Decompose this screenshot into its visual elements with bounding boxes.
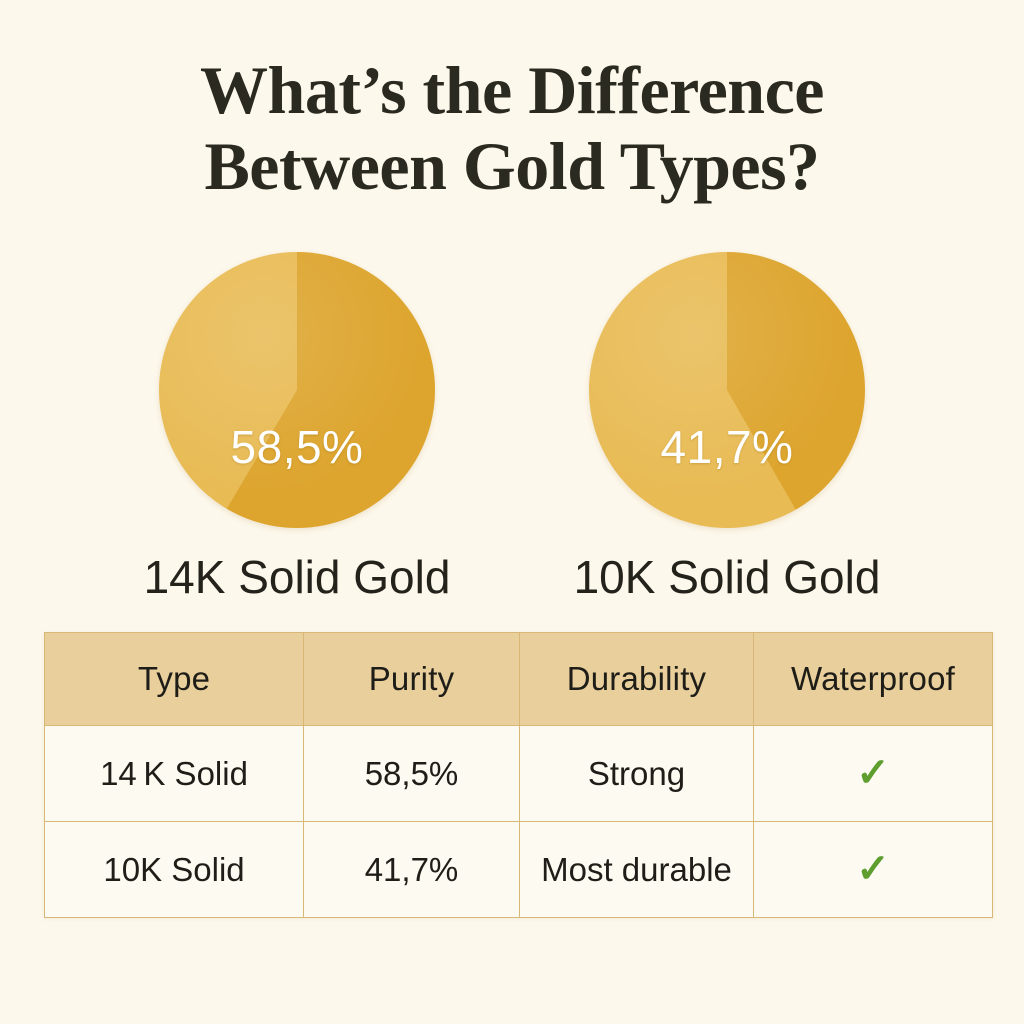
pie-chart-14k: 58,5% 14K Solid Gold	[87, 250, 507, 540]
pie-caption-14k: 14K Solid Gold	[87, 550, 507, 604]
cell-type-10k: 10K Solid	[45, 822, 304, 918]
gold-comparison-table: Type Purity Durability Waterproof 14 K S…	[44, 632, 993, 918]
pie-value-label-10k: 41,7%	[589, 420, 865, 474]
page-title: What’s the Difference Between Gold Types…	[0, 52, 1024, 204]
pie-graphic-10k: 41,7%	[589, 252, 865, 528]
check-icon: ✓	[856, 849, 890, 889]
pie-value-label-14k: 58,5%	[159, 420, 435, 474]
table-header-durability: Durability	[520, 633, 754, 726]
pie-caption-10k: 10K Solid Gold	[517, 550, 937, 604]
pie-charts-row: 58,5% 14K Solid Gold 41,7% 10K Solid Gol…	[0, 250, 1024, 540]
cell-waterproof-10k: ✓	[754, 822, 993, 918]
table-header-purity: Purity	[304, 633, 520, 726]
title-line-2: Between Gold Types?	[0, 128, 1024, 204]
table-header-type: Type	[45, 633, 304, 726]
table-header-waterproof: Waterproof	[754, 633, 993, 726]
infographic-canvas: What’s the Difference Between Gold Types…	[0, 0, 1024, 1024]
cell-purity-14k: 58,5%	[304, 726, 520, 822]
table-header-row: Type Purity Durability Waterproof	[45, 633, 993, 726]
table-row: 10K Solid 41,7% Most durable ✓	[45, 822, 993, 918]
cell-type-14k: 14 K Solid	[45, 726, 304, 822]
cell-waterproof-14k: ✓	[754, 726, 993, 822]
check-icon: ✓	[856, 753, 890, 793]
cell-durability-10k: Most durable	[520, 822, 754, 918]
pie-graphic-14k: 58,5%	[159, 252, 435, 528]
cell-durability-14k: Strong	[520, 726, 754, 822]
title-line-1: What’s the Difference	[0, 52, 1024, 128]
pie-chart-10k: 41,7% 10K Solid Gold	[517, 250, 937, 540]
table-row: 14 K Solid 58,5% Strong ✓	[45, 726, 993, 822]
cell-purity-10k: 41,7%	[304, 822, 520, 918]
